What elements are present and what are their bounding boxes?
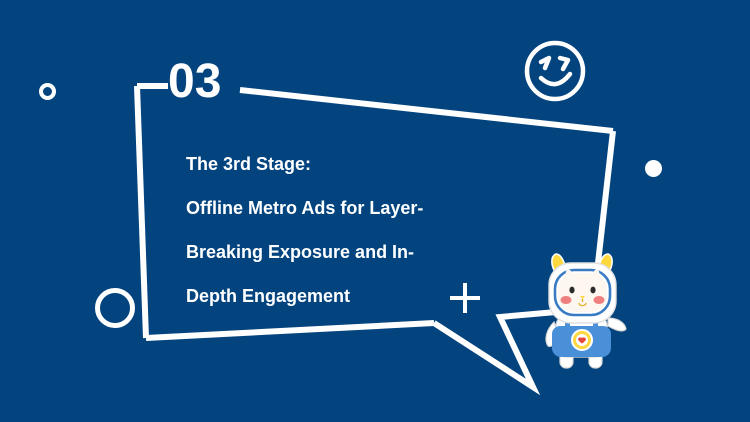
mascot-cheek-left (561, 296, 572, 304)
mascot-cheek-right (594, 296, 605, 304)
mascot-eye-left (569, 287, 574, 294)
slide-canvas: 03 The 3rd Stage: Offline Metro Ads for … (0, 0, 750, 422)
mascot-eye-right (590, 287, 595, 294)
astronaut-cat-mascot (0, 0, 750, 422)
arm-right (608, 318, 626, 331)
